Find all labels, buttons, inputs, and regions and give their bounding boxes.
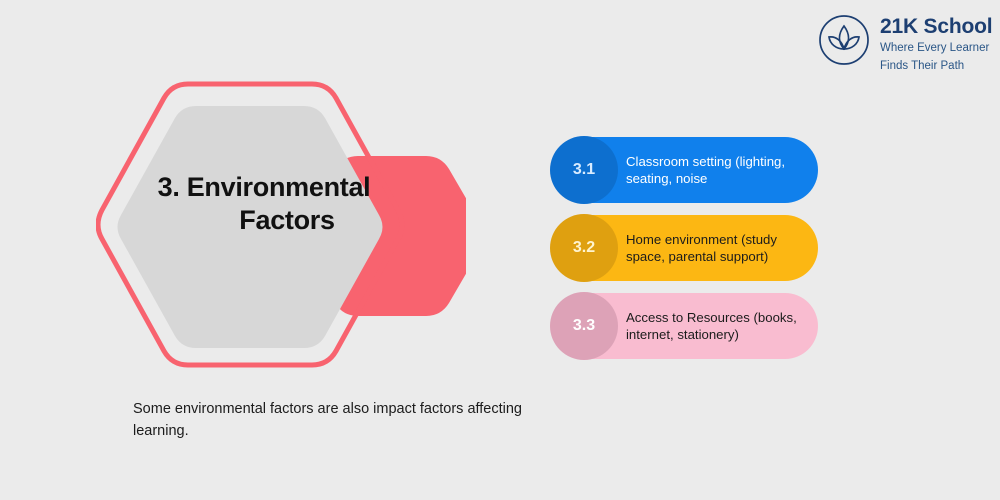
logo-tagline-line1: Where Every Learner [880,42,989,54]
hexagon-title: 3. Environmental Factors [124,171,404,237]
hexagon-title-line2: Factors [124,204,404,237]
logo-tagline: Where Every Learner Finds Their Path [880,42,989,72]
pill-label: Home environment (study space, parental … [626,231,806,266]
caption-text: Some environmental factors are also impa… [133,398,533,443]
list-item[interactable]: 3.2 Home environment (study space, paren… [551,215,818,281]
logo-title: 21K School [880,15,992,38]
pill-number-badge: 3.3 [550,292,618,360]
logo-text-group: 21K School Where Every Learner Finds The… [880,14,1000,74]
logo-tagline-line2: Finds Their Path [880,60,964,72]
list-item[interactable]: 3.1 Classroom setting (lighting, seating… [551,137,818,203]
pill-label: Access to Resources (books, internet, st… [626,309,806,344]
pill-number-badge: 3.1 [550,136,618,204]
hexagon-title-line1: 3. Environmental [158,172,371,202]
factor-list: 3.1 Classroom setting (lighting, seating… [551,137,821,371]
list-item[interactable]: 3.3 Access to Resources (books, internet… [551,293,818,359]
pill-label: Classroom setting (lighting, seating, no… [626,153,806,188]
lotus-in-circle-icon [818,14,870,66]
pill-number-badge: 3.2 [550,214,618,282]
brand-logo: 21K School Where Every Learner Finds The… [818,14,1000,74]
hexagon-graphic: 3. Environmental Factors [96,78,466,373]
